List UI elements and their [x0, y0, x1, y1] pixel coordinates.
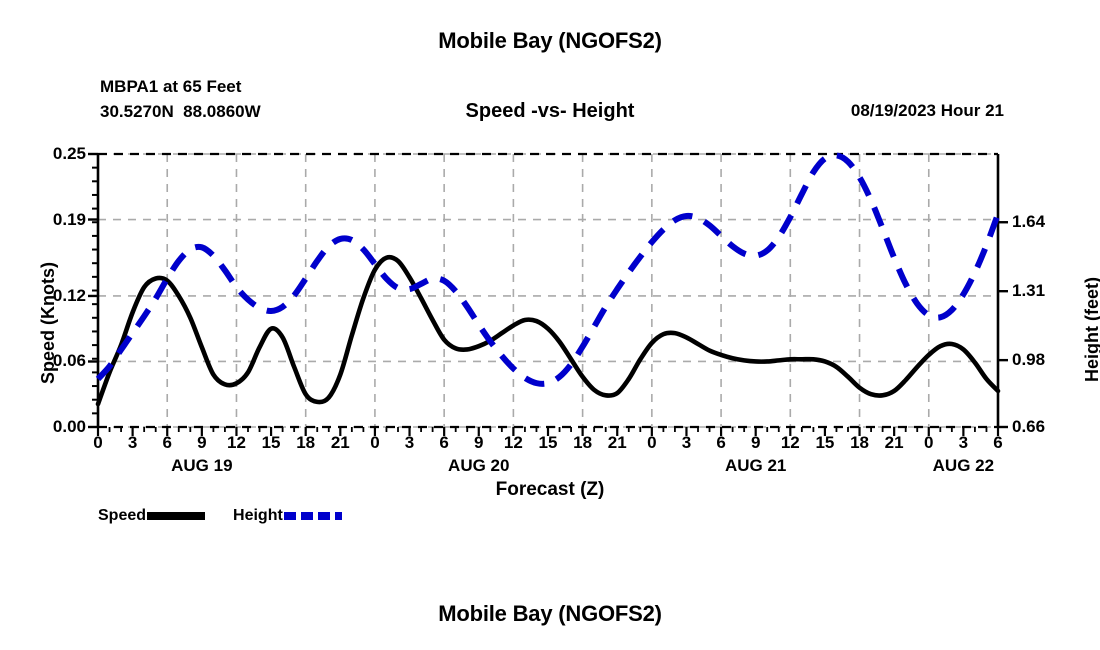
legend-label-height: Height	[233, 507, 283, 525]
legend-label-speed: Speed	[98, 507, 146, 525]
legend-entry-speed: Speed	[98, 507, 205, 525]
plot-area	[0, 0, 1100, 650]
legend-swatch-height-icon	[284, 512, 342, 520]
chart-figure: Mobile Bay (NGOFS2) MBPA1 at 65 Feet 30.…	[0, 0, 1100, 650]
chart-legend: Speed Height	[98, 507, 342, 525]
legend-swatch-speed-icon	[147, 512, 205, 520]
series-line-height	[98, 155, 998, 384]
footer-title: Mobile Bay (NGOFS2)	[0, 601, 1100, 627]
legend-entry-height: Height	[233, 507, 342, 525]
